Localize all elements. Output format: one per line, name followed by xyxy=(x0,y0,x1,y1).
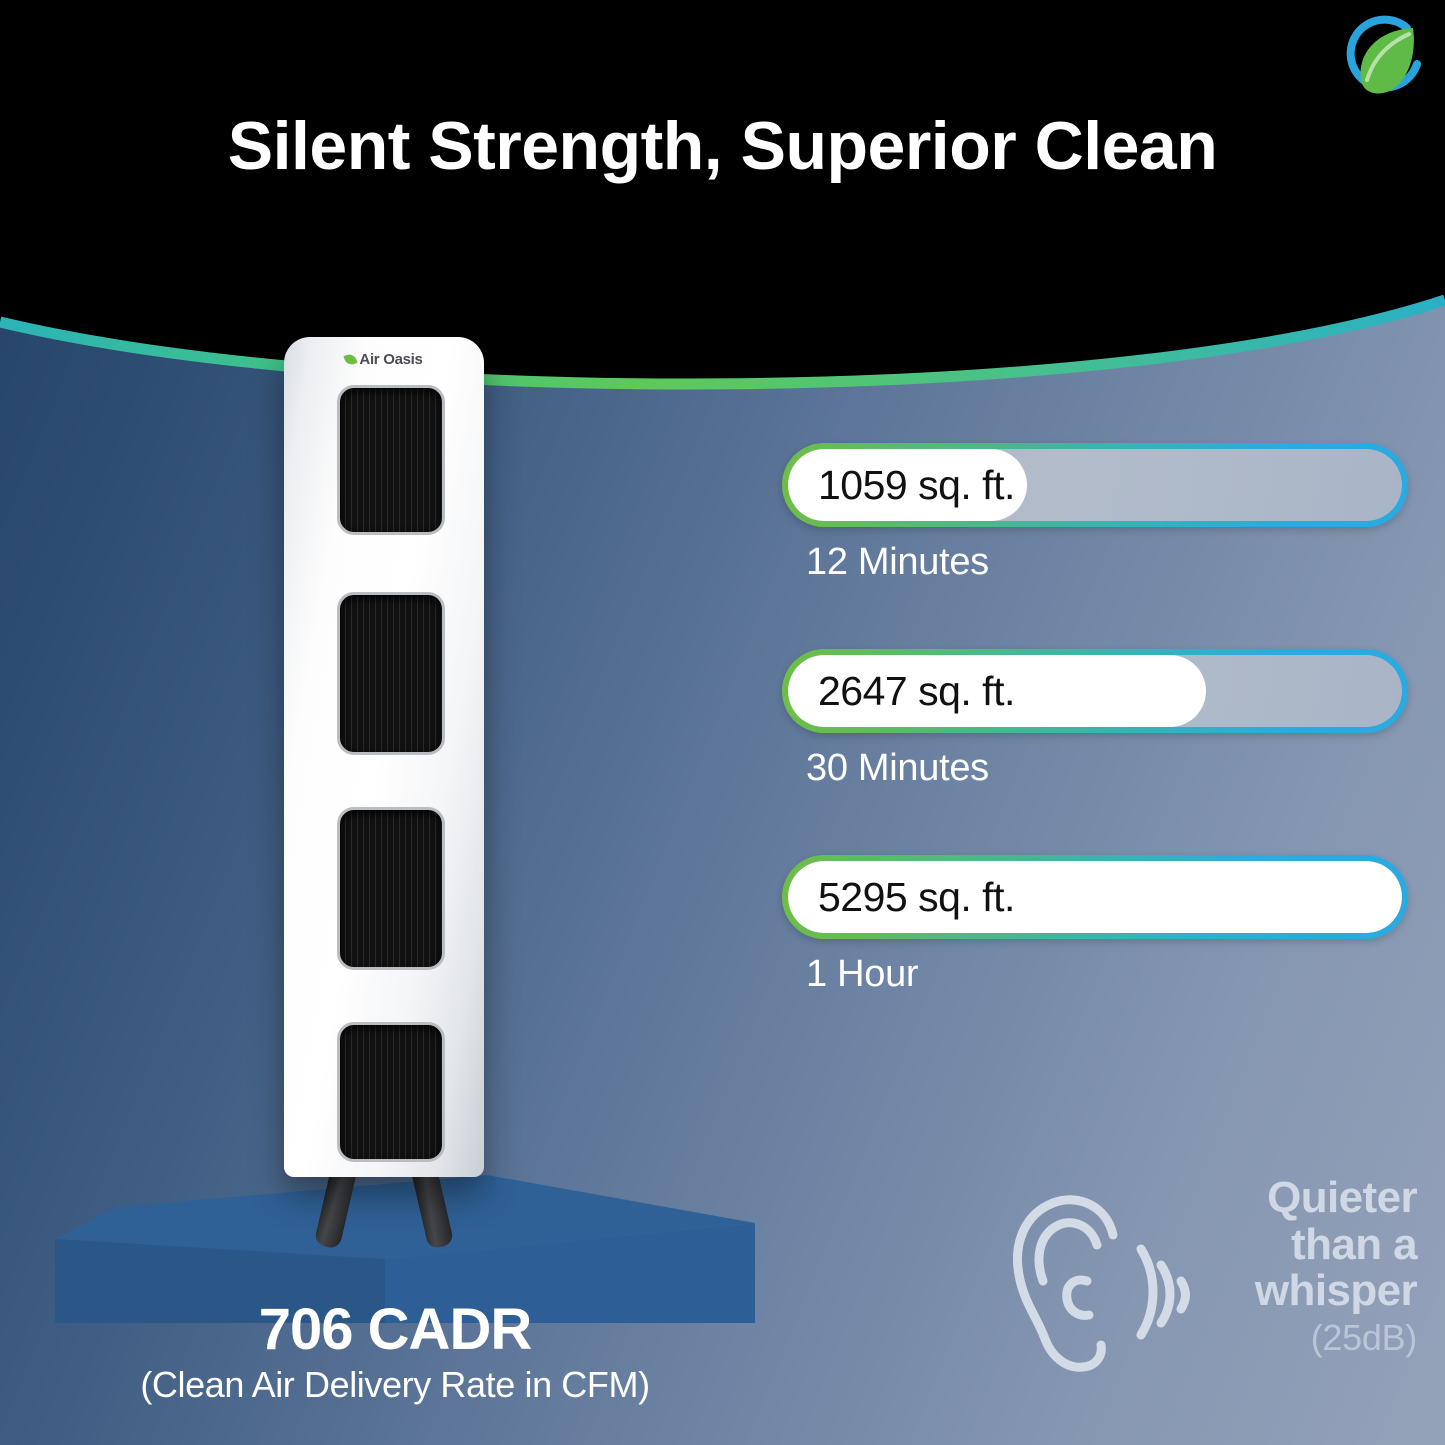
coverage-bar-value: 1059 sq. ft. xyxy=(818,449,1015,521)
coverage-bar-item: 2647 sq. ft. 30 Minutes xyxy=(782,649,1408,790)
quiet-badge: Quieter than a whisper (25dB) xyxy=(995,1175,1425,1425)
coverage-bar-inner: 2647 sq. ft. xyxy=(788,655,1402,727)
ear-icon xyxy=(995,1183,1195,1383)
device-vent xyxy=(337,385,445,535)
coverage-bar-item: 1059 sq. ft. 12 Minutes xyxy=(782,443,1408,584)
coverage-bar-track: 2647 sq. ft. xyxy=(782,649,1408,733)
device-vent xyxy=(337,592,445,755)
coverage-bar-track: 5295 sq. ft. xyxy=(782,855,1408,939)
quiet-text-block: Quieter than a whisper (25dB) xyxy=(1197,1175,1417,1359)
coverage-bar-list: 1059 sq. ft. 12 Minutes 2647 sq. ft. 30 … xyxy=(782,443,1408,996)
air-purifier-device: Air Oasis xyxy=(284,337,484,1217)
device-brand-text: Air Oasis xyxy=(359,351,422,368)
cadr-caption: (Clean Air Delivery Rate in CFM) xyxy=(0,1364,790,1406)
coverage-bar-time-label: 30 Minutes xyxy=(782,747,1408,790)
quiet-line-1: Quieter xyxy=(1197,1175,1417,1222)
coverage-bar-value: 5295 sq. ft. xyxy=(818,861,1015,933)
coverage-bar-inner: 5295 sq. ft. xyxy=(788,861,1402,933)
cadr-value: 706 CADR xyxy=(0,1300,790,1359)
coverage-bar-inner: 1059 sq. ft. xyxy=(788,449,1402,521)
infographic-poster: Silent Strength, Superior Clean Air Oasi… xyxy=(0,0,1445,1445)
cadr-block: 706 CADR (Clean Air Delivery Rate in CFM… xyxy=(0,1300,790,1406)
quiet-decibel-label: (25dB) xyxy=(1197,1317,1417,1359)
coverage-bar-track: 1059 sq. ft. xyxy=(782,443,1408,527)
coverage-bar-value: 2647 sq. ft. xyxy=(818,655,1015,727)
leaf-logo-icon xyxy=(1335,12,1431,108)
quiet-line-3: whisper xyxy=(1197,1268,1417,1315)
device-vent xyxy=(337,807,445,970)
coverage-bar-item: 5295 sq. ft. 1 Hour xyxy=(782,855,1408,996)
page-title: Silent Strength, Superior Clean xyxy=(0,112,1445,180)
coverage-bar-time-label: 1 Hour xyxy=(782,953,1408,996)
device-leaf-icon xyxy=(344,352,358,366)
coverage-bar-time-label: 12 Minutes xyxy=(782,541,1408,584)
device-vent xyxy=(337,1022,445,1162)
device-body: Air Oasis xyxy=(284,337,484,1177)
device-brand-label: Air Oasis xyxy=(284,351,484,368)
quiet-line-2: than a xyxy=(1197,1222,1417,1269)
